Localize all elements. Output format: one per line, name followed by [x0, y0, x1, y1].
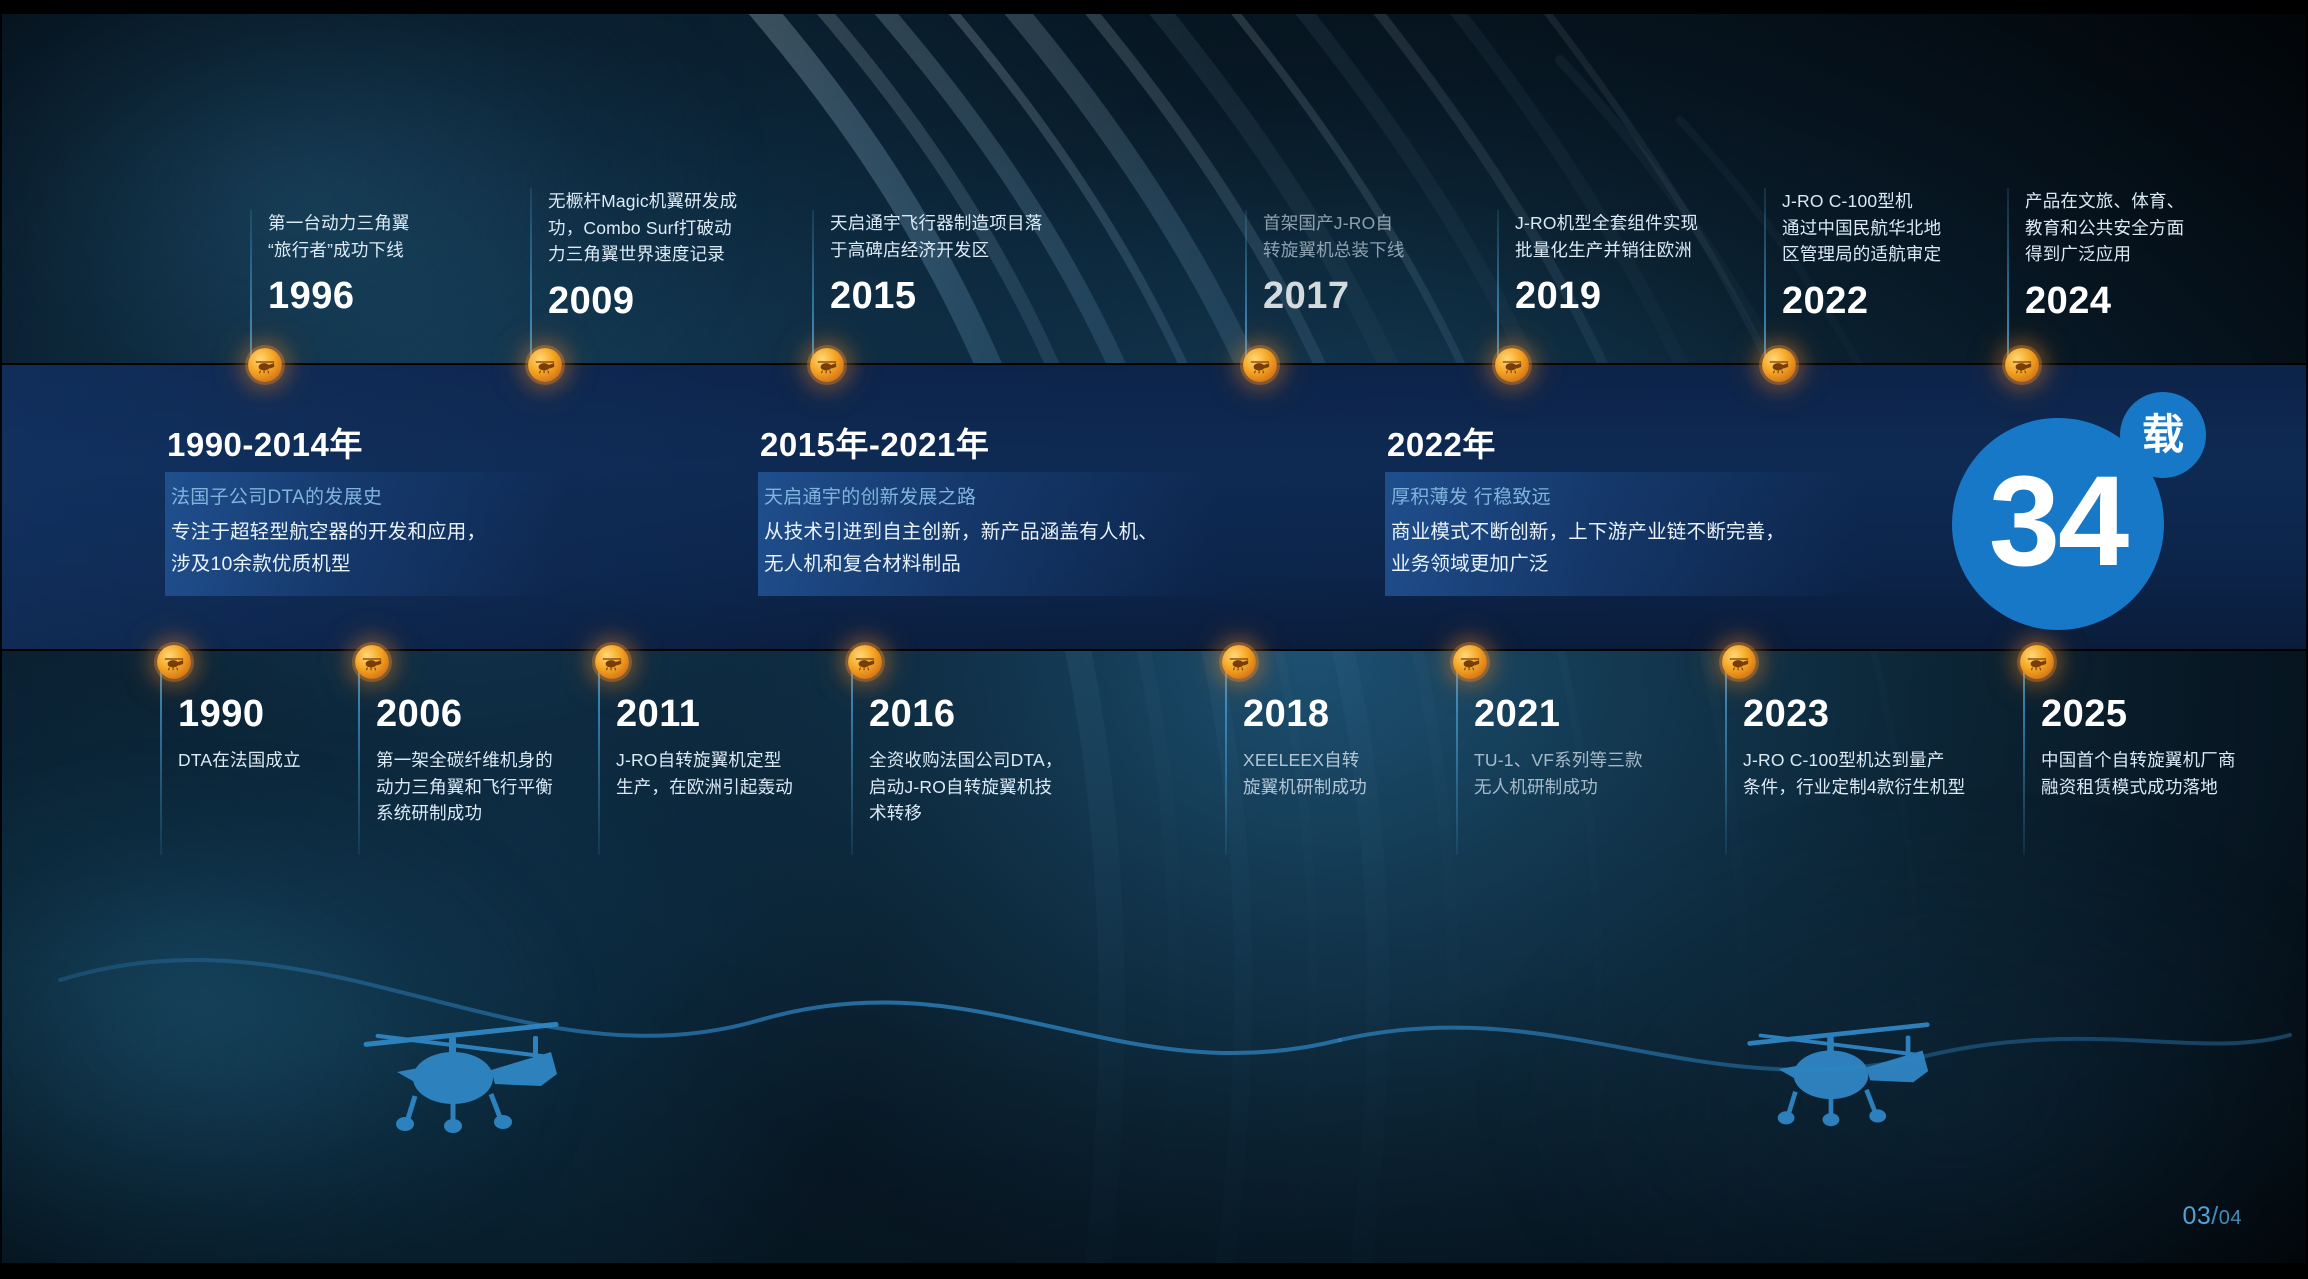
- event-stem: [598, 655, 600, 855]
- timeline-event-top-2022[interactable]: J-RO C-100型机 通过中国民航华北地 区管理局的适航审定 2022: [1782, 188, 1994, 320]
- period-block-1990-2014[interactable]: 1990-2014年 法国子公司DTA的发展史 专注于超轻型航空器的开发和应用，…: [165, 418, 583, 596]
- gyroplane-marker-icon: [1228, 651, 1250, 673]
- timeline-marker-2006[interactable]: [355, 645, 389, 679]
- event-stem: [1456, 655, 1458, 855]
- event-year: 2015: [830, 277, 1078, 315]
- period-subtitle: 厚积薄发 行稳致远: [1391, 482, 1867, 509]
- event-year: 2025: [2041, 695, 2273, 733]
- timeline-event-top-2019[interactable]: J-RO机型全套组件实现 批量化生产并销往欧洲 2019: [1515, 210, 1757, 315]
- timeline-marker-1996[interactable]: [248, 348, 282, 382]
- period-description: 专注于超轻型航空器的开发和应用， 涉及10余款优质机型: [171, 517, 565, 580]
- event-year: 2006: [376, 695, 576, 733]
- event-year: 2019: [1515, 277, 1757, 315]
- event-year: 2009: [548, 282, 780, 320]
- gyroplane-marker-icon: [1501, 354, 1523, 376]
- event-note: J-RO C-100型机 通过中国民航华北地 区管理局的适航审定: [1782, 188, 1994, 268]
- period-body: 法国子公司DTA的发展史 专注于超轻型航空器的开发和应用， 涉及10余款优质机型: [165, 472, 583, 596]
- period-title: 2022年: [1385, 418, 1885, 466]
- event-note: 中国首个自转旋翼机厂商 融资租赁模式成功落地: [2041, 747, 2273, 800]
- event-note: J-RO自转旋翼机定型 生产，在欧洲引起轰动: [616, 747, 826, 800]
- period-block-2022[interactable]: 2022年 厚积薄发 行稳致远 商业模式不断创新，上下游产业链不断完善， 业务领…: [1385, 418, 1885, 596]
- timeline-marker-2009[interactable]: [528, 348, 562, 382]
- period-title: 1990-2014年: [165, 418, 583, 466]
- timeline-event-top-2017[interactable]: 首架国产J-RO自 转旋翼机总装下线 2017: [1263, 210, 1485, 315]
- event-stem: [851, 655, 853, 855]
- event-note: TU-1、VF系列等三款 无人机研制成功: [1474, 747, 1688, 800]
- timeline-event-bottom-2025[interactable]: 2025 中国首个自转旋翼机厂商 融资租赁模式成功落地: [2041, 695, 2273, 800]
- gyroplane-marker-icon: [534, 354, 556, 376]
- event-note: 天启通宇飞行器制造项目落 于高碑店经济开发区: [830, 210, 1078, 263]
- gyroplane-marker-icon: [254, 354, 276, 376]
- event-year: 2018: [1243, 695, 1433, 733]
- event-note: DTA在法国成立: [178, 747, 368, 774]
- timeline-marker-2015[interactable]: [810, 348, 844, 382]
- page-number: 03/04: [2182, 1202, 2242, 1231]
- event-year: 1996: [268, 277, 496, 315]
- timeline-event-bottom-1990[interactable]: 1990 DTA在法国成立: [178, 695, 368, 774]
- event-stem: [160, 655, 162, 855]
- event-stem: [1245, 210, 1247, 370]
- timeline-event-bottom-2006[interactable]: 2006 第一架全碳纤维机身的 动力三角翼和飞行平衡 系统研制成功: [376, 695, 576, 827]
- event-year: 2017: [1263, 277, 1485, 315]
- event-stem: [1725, 655, 1727, 855]
- anniversary-unit: 载: [2142, 414, 2184, 456]
- timeline-marker-2011[interactable]: [595, 645, 629, 679]
- event-note: XEELEEX自转 旋翼机研制成功: [1243, 747, 1433, 800]
- gyroplane-marker-icon: [1728, 651, 1750, 673]
- event-note: 第一台动力三角翼 “旅行者”成功下线: [268, 210, 496, 263]
- period-description: 从技术引进到自主创新，新产品涵盖有人机、 无人机和复合材料制品: [764, 517, 1222, 580]
- timeline-marker-2025[interactable]: [2020, 645, 2054, 679]
- gyroplane-silhouette-left: [345, 1000, 575, 1135]
- event-note: J-RO C-100型机达到量产 条件，行业定制4款衍生机型: [1743, 747, 1995, 800]
- period-body: 厚积薄发 行稳致远 商业模式不断创新，上下游产业链不断完善， 业务领域更加广泛: [1385, 472, 1885, 596]
- slide-canvas: 第一台动力三角翼 “旅行者”成功下线 1996 无橛杆Magic机翼研发成 功，…: [0, 0, 2308, 1279]
- timeline-event-bottom-2016[interactable]: 2016 全资收购法国公司DTA， 启动J-RO自转旋翼机技 术转移: [869, 695, 1081, 827]
- timeline-marker-2022[interactable]: [1762, 348, 1796, 382]
- event-stem: [2023, 655, 2025, 855]
- event-note: J-RO机型全套组件实现 批量化生产并销往欧洲: [1515, 210, 1757, 263]
- event-note: 全资收购法国公司DTA， 启动J-RO自转旋翼机技 术转移: [869, 747, 1081, 827]
- gyroplane-marker-icon: [1768, 354, 1790, 376]
- event-year: 2021: [1474, 695, 1688, 733]
- event-year: 2011: [616, 695, 826, 733]
- event-note: 产品在文旅、体育、 教育和公共安全方面 得到广泛应用: [2025, 188, 2235, 268]
- event-stem: [1497, 210, 1499, 370]
- page-current: 03: [2182, 1202, 2211, 1230]
- gyroplane-marker-icon: [601, 651, 623, 673]
- gyroplane-marker-icon: [816, 354, 838, 376]
- gyroplane-marker-icon: [854, 651, 876, 673]
- page-total: 04: [2219, 1207, 2242, 1229]
- period-block-2015-2021[interactable]: 2015年-2021年 天启通宇的创新发展之路 从技术引进到自主创新，新产品涵盖…: [758, 418, 1240, 596]
- timeline-marker-2017[interactable]: [1243, 348, 1277, 382]
- event-stem: [1225, 655, 1227, 855]
- period-description: 商业模式不断创新，上下游产业链不断完善， 业务领域更加广泛: [1391, 517, 1867, 580]
- event-year: 1990: [178, 695, 368, 733]
- gyroplane-marker-icon: [2026, 651, 2048, 673]
- period-body: 天启通宇的创新发展之路 从技术引进到自主创新，新产品涵盖有人机、 无人机和复合材…: [758, 472, 1240, 596]
- event-year: 2022: [1782, 282, 1994, 320]
- event-stem: [250, 210, 252, 370]
- anniversary-number: 34: [1989, 458, 2127, 586]
- timeline-marker-2021[interactable]: [1453, 645, 1487, 679]
- gyroplane-marker-icon: [2011, 354, 2033, 376]
- timeline-event-top-1996[interactable]: 第一台动力三角翼 “旅行者”成功下线 1996: [268, 210, 496, 315]
- gyroplane-marker-icon: [163, 651, 185, 673]
- timeline-marker-2018[interactable]: [1222, 645, 1256, 679]
- timeline-marker-1990[interactable]: [157, 645, 191, 679]
- timeline-event-bottom-2023[interactable]: 2023 J-RO C-100型机达到量产 条件，行业定制4款衍生机型: [1743, 695, 1995, 800]
- event-stem: [530, 188, 532, 370]
- event-stem: [358, 655, 360, 855]
- page-separator: /: [2211, 1202, 2218, 1230]
- gyroplane-marker-icon: [1249, 354, 1271, 376]
- gyroplane-marker-icon: [361, 651, 383, 673]
- timeline-event-top-2015[interactable]: 天启通宇飞行器制造项目落 于高碑店经济开发区 2015: [830, 210, 1078, 315]
- timeline-event-bottom-2011[interactable]: 2011 J-RO自转旋翼机定型 生产，在欧洲引起轰动: [616, 695, 826, 800]
- event-stem: [812, 210, 814, 370]
- timeline-event-bottom-2018[interactable]: 2018 XEELEEX自转 旋翼机研制成功: [1243, 695, 1433, 800]
- timeline-marker-2023[interactable]: [1722, 645, 1756, 679]
- event-note: 无橛杆Magic机翼研发成 功，Combo Surf打破动 力三角翼世界速度记录: [548, 188, 780, 268]
- timeline-marker-2019[interactable]: [1495, 348, 1529, 382]
- event-year: 2016: [869, 695, 1081, 733]
- event-stem: [2007, 188, 2009, 370]
- event-note: 第一架全碳纤维机身的 动力三角翼和飞行平衡 系统研制成功: [376, 747, 576, 827]
- gyroplane-marker-icon: [1459, 651, 1481, 673]
- period-title: 2015年-2021年: [758, 418, 1240, 466]
- event-year: 2024: [2025, 282, 2235, 320]
- event-note: 首架国产J-RO自 转旋翼机总装下线: [1263, 210, 1485, 263]
- event-stem: [1764, 188, 1766, 370]
- timeline-event-top-2024[interactable]: 产品在文旅、体育、 教育和公共安全方面 得到广泛应用 2024: [2025, 188, 2235, 320]
- timeline-event-bottom-2021[interactable]: 2021 TU-1、VF系列等三款 无人机研制成功: [1474, 695, 1688, 800]
- period-subtitle: 天启通宇的创新发展之路: [764, 482, 1222, 509]
- timeline-marker-2024[interactable]: [2005, 348, 2039, 382]
- anniversary-badge-unit-circle: 载: [2120, 392, 2206, 478]
- timeline-event-top-2009[interactable]: 无橛杆Magic机翼研发成 功，Combo Surf打破动 力三角翼世界速度记录…: [548, 188, 780, 320]
- event-year: 2023: [1743, 695, 1995, 733]
- period-subtitle: 法国子公司DTA的发展史: [171, 482, 565, 509]
- gyroplane-silhouette-right: [1730, 1000, 1945, 1130]
- timeline-marker-2016[interactable]: [848, 645, 882, 679]
